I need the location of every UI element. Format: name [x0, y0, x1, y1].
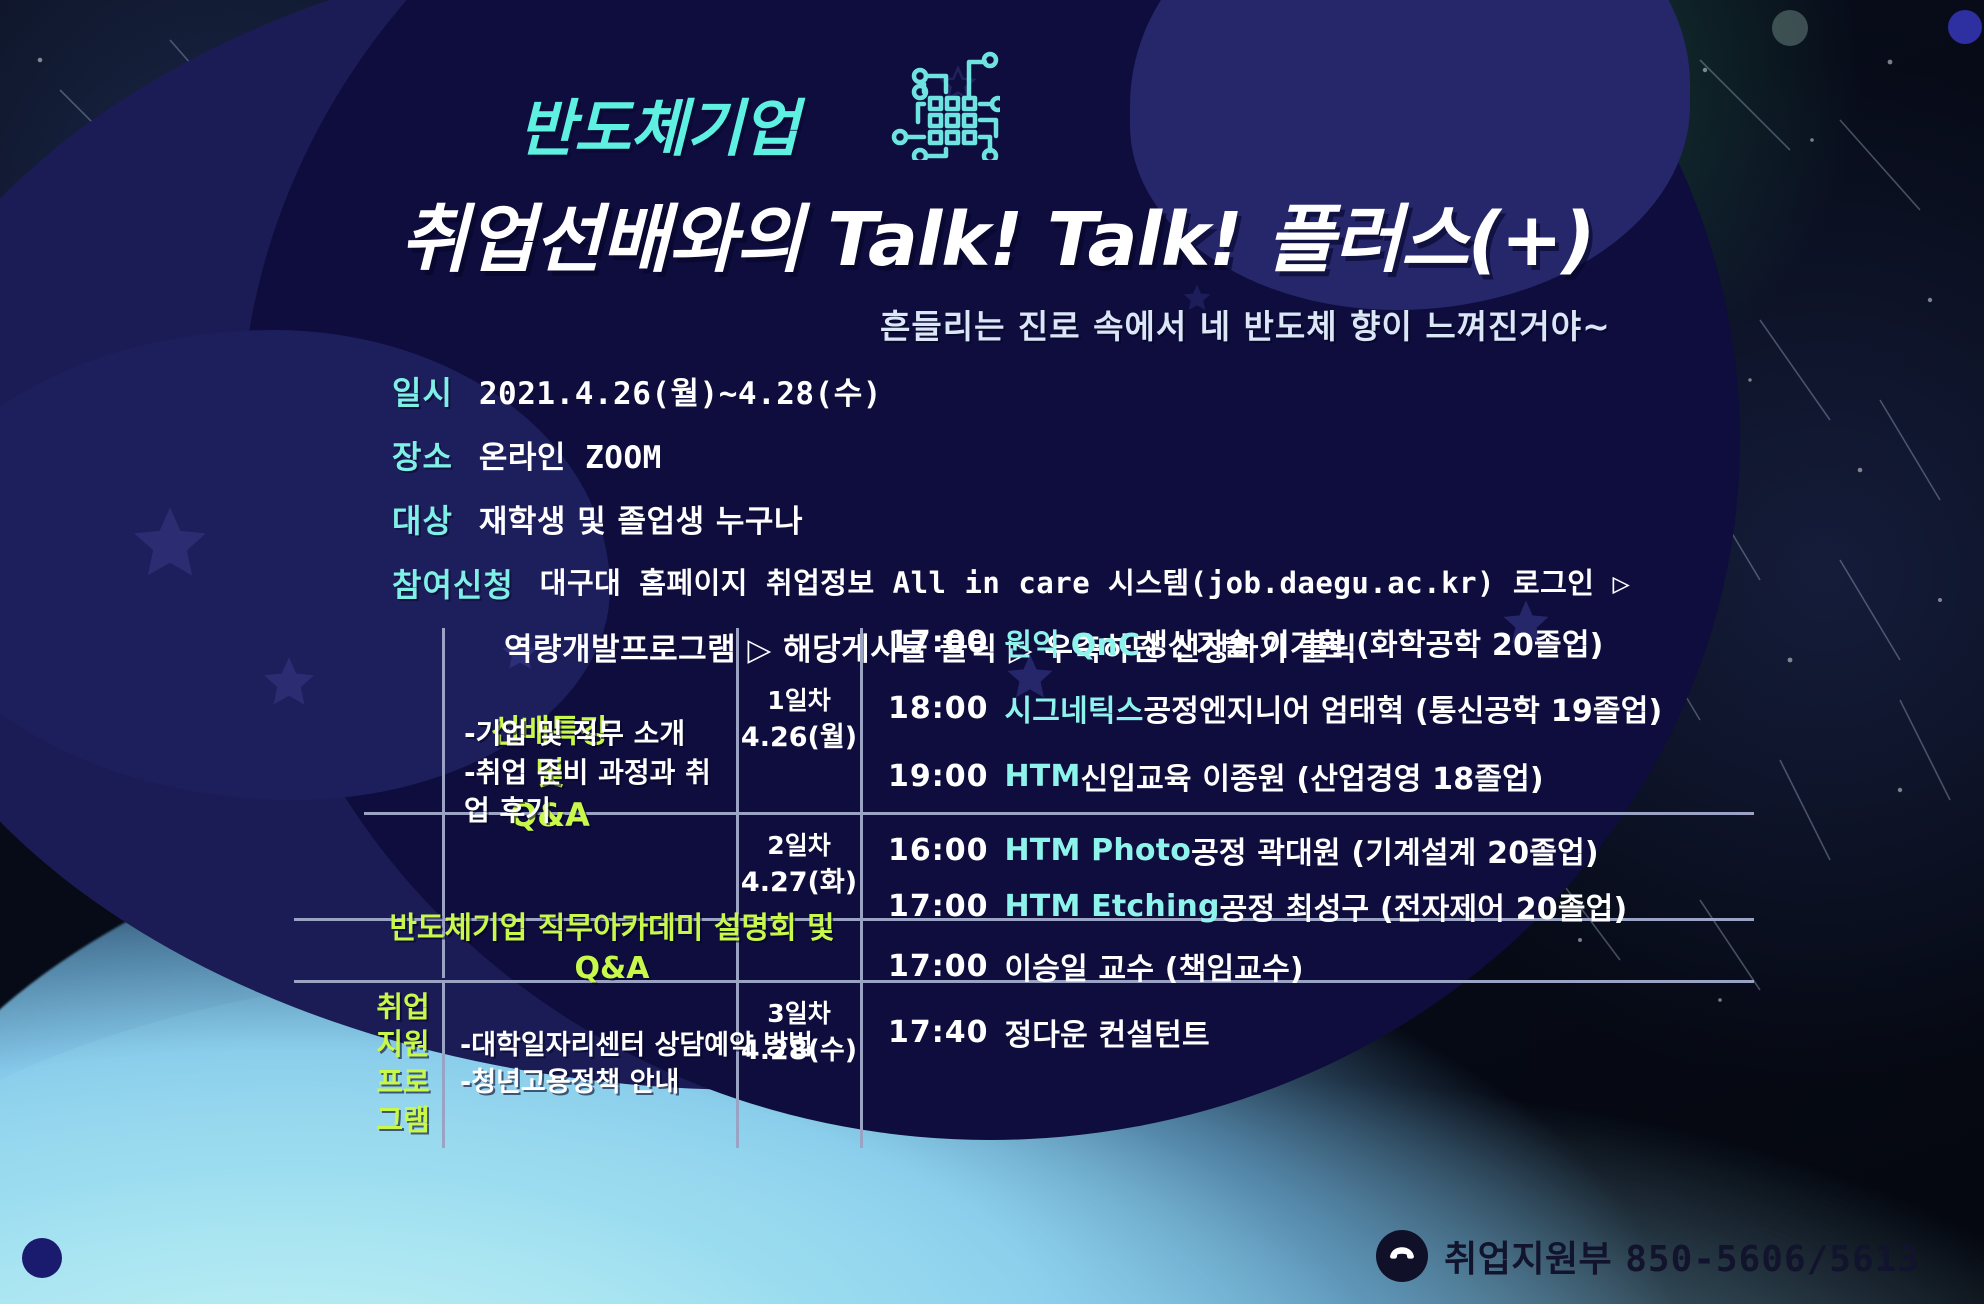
- info-row-place: 장소 온라인 ZOOM: [392, 432, 1630, 478]
- info-row-target: 대상 재학생 및 졸업생 누구나: [392, 496, 1630, 542]
- session-detail: 공정엔지니어 엄태혁 (통신공학 19졸업): [1144, 686, 1663, 730]
- table-divider: [442, 980, 445, 1148]
- session-row: 17:00 원익 QnC 생산기술 이기환 (화학공학 20졸업): [888, 620, 1604, 664]
- info-label: 참여신청: [392, 560, 514, 606]
- table-day-cell: 3일차 4.28(수): [740, 918, 858, 1148]
- info-value: 대구대 홈페이지 취업정보 All in care 시스템(job.daegu.…: [540, 560, 1631, 602]
- session-row: 17:00 이승일 교수 (책임교수): [888, 944, 1304, 988]
- desc-line: -기업 및 직무 소개: [464, 715, 736, 754]
- schedule-table: 선배특강 및 Q&A 반도체기업 직무아카데미 설명회 및 Q&A 취업지원 프…: [364, 628, 1764, 1148]
- session-time: 17:40: [888, 1015, 989, 1050]
- footer-dept: 취업지원부: [1444, 1239, 1612, 1280]
- session-detail: 정다운 컨설턴트: [1005, 1010, 1210, 1054]
- session-company: HTM Photo: [1005, 833, 1192, 868]
- session-row: 17:00 HTM Etching 공정 최성구 (전자제어 20졸업): [888, 884, 1627, 928]
- session-time: 17:00: [888, 889, 989, 924]
- poster-root: 반도체기업 취업선배와의 Talk! Talk! 플러스(+) 흔들리는 진로 …: [0, 0, 1984, 1304]
- table-description-cell: -기업 및 직무 소개 -취업 준비 과정과 취업 후기: [464, 628, 736, 918]
- day-number: 1일차: [767, 683, 830, 719]
- day-date: 4.26(월): [741, 719, 857, 757]
- kicker-title: 반도체기업: [518, 78, 798, 168]
- session-row: 19:00 HTM 신입교육 이종원 (산업경영 18졸업): [888, 754, 1544, 798]
- session-company: 시그네틱스: [1005, 686, 1144, 730]
- table-category-cell: 취업지원 프로그램: [364, 980, 442, 1148]
- session-company: 원익 QnC: [1005, 620, 1141, 664]
- phone-icon: [1376, 1230, 1428, 1282]
- session-time: 18:00: [888, 691, 989, 726]
- session-detail: 공정 곽대원 (기계설계 20졸업): [1191, 828, 1599, 872]
- info-row-date: 일시 2021.4.26(월)~4.28(수): [392, 368, 1630, 414]
- session-company: HTM: [1005, 759, 1081, 794]
- session-row: 17:40 정다운 컨설턴트: [888, 1010, 1210, 1054]
- info-label: 일시: [392, 368, 453, 414]
- info-value: 2021.4.26(월)~4.28(수): [479, 368, 882, 413]
- info-value: 재학생 및 졸업생 누구나: [479, 496, 803, 541]
- circuit-chip-icon: [880, 40, 1000, 160]
- info-value: 온라인 ZOOM: [479, 432, 662, 477]
- session-row: 18:00 시그네틱스 공정엔지니어 엄태혁 (통신공학 19졸업): [888, 686, 1662, 730]
- tagline: 흔들리는 진로 속에서 네 반도체 향이 느껴진거야~: [880, 300, 1611, 348]
- day-number: 2일차: [767, 828, 830, 864]
- session-detail: 이승일 교수 (책임교수): [1005, 944, 1304, 988]
- page-title: 취업선배와의 Talk! Talk! 플러스(+): [400, 180, 1595, 287]
- day-date: 4.28(수): [741, 1032, 857, 1070]
- day-number: 3일차: [767, 996, 830, 1032]
- session-row: 16:00 HTM Photo 공정 곽대원 (기계설계 20졸업): [888, 828, 1599, 872]
- footer-text: 취업지원부 850-5606/5613: [1444, 1230, 1920, 1282]
- session-detail: 공정 최성구 (전자제어 20졸업): [1220, 884, 1628, 928]
- table-day-cell: 1일차 4.26(월): [740, 628, 858, 812]
- session-detail: 신입교육 이종원 (산업경영 18졸업): [1081, 754, 1544, 798]
- desc-line: -취업 준비 과정과 취업 후기: [464, 754, 736, 831]
- session-detail: 생산기술 이기환 (화학공학 20졸업): [1140, 620, 1603, 664]
- session-time: 17:00: [888, 949, 989, 984]
- footer-phone: 850-5606/5613: [1625, 1239, 1920, 1280]
- content-layer: 반도체기업 취업선배와의 Talk! Talk! 플러스(+) 흔들리는 진로 …: [0, 0, 1984, 1304]
- info-label: 대상: [392, 496, 453, 542]
- session-time: 19:00: [888, 759, 989, 794]
- session-time: 17:00: [888, 625, 989, 660]
- session-time: 16:00: [888, 833, 989, 868]
- table-day-cell: 2일차 4.27(화): [740, 812, 858, 918]
- table-divider: [860, 628, 863, 1148]
- footer-contact: 취업지원부 850-5606/5613: [1376, 1230, 1920, 1282]
- day-date: 4.27(화): [741, 864, 857, 902]
- info-row-apply: 참여신청 대구대 홈페이지 취업정보 All in care 시스템(job.d…: [392, 560, 1630, 606]
- info-label: 장소: [392, 432, 453, 478]
- session-company: HTM Etching: [1005, 889, 1220, 924]
